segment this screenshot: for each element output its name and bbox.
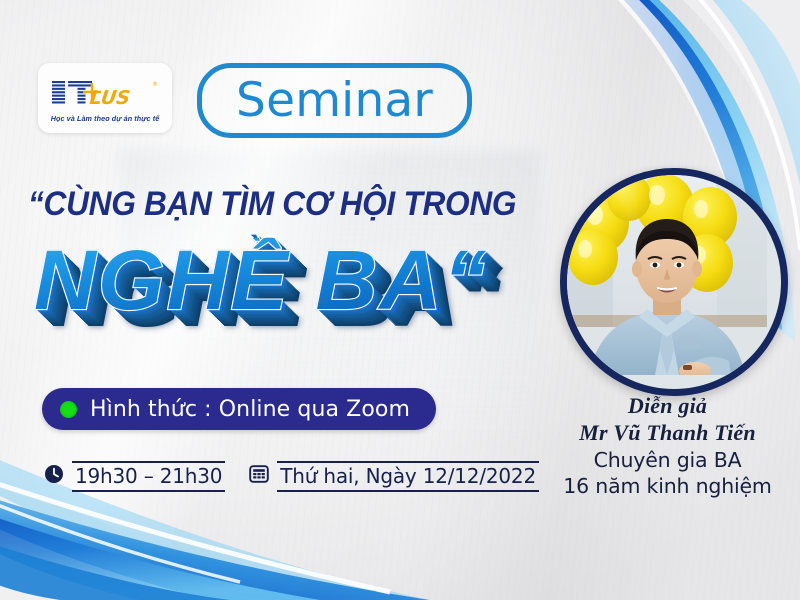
avatar-image	[567, 175, 781, 389]
itplus-logo-icon: LUS ®	[49, 76, 161, 112]
seminar-badge: Seminar	[197, 63, 472, 138]
avatar-illustration	[567, 175, 767, 375]
speaker-role: Diễn giả	[540, 392, 795, 419]
speaker-info: Diễn giả Mr Vũ Thanh Tiến Chuyên gia BA …	[540, 392, 795, 500]
event-time-item: 19h30 – 21h30	[44, 461, 225, 492]
avatar	[560, 168, 788, 396]
svg-text:®: ®	[152, 81, 158, 88]
clock-icon	[44, 464, 64, 489]
brand-logo-card: LUS ® Học và Làm theo dự án thực tế	[38, 63, 172, 133]
format-badge: Hình thức : Online qua Zoom	[42, 388, 436, 430]
brand-tagline: Học và Làm theo dự án thực tế	[51, 114, 160, 123]
speaker-name: Mr Vũ Thanh Tiến	[540, 419, 795, 446]
event-date-item: Thứ hai, Ngày 12/12/2022	[249, 461, 539, 492]
page-title-line-1: “CÙNG BẠN TÌM CƠ HỘI TRONG	[28, 185, 465, 224]
big-word-face: NGHỀ BA“	[34, 238, 488, 322]
event-meta-row: 19h30 – 21h30 Thứ hai, Ngày 12/12/2022	[44, 461, 539, 492]
page-title-line-2: NGHỀ BA“ NGHỀ BA“ NGHỀ BA“	[34, 238, 504, 358]
format-badge-label: Hình thức : Online qua Zoom	[90, 397, 410, 422]
svg-text:LUS: LUS	[88, 86, 131, 109]
event-time-text: 19h30 – 21h30	[72, 461, 225, 492]
green-status-dot-icon	[60, 401, 77, 418]
seminar-poster: LUS ® Học và Làm theo dự án thực tế Semi…	[0, 0, 800, 600]
seminar-badge-label: Seminar	[236, 77, 433, 124]
itplus-logo-svg: LUS ®	[49, 76, 161, 112]
speaker-expertise: Chuyên gia BA	[540, 447, 795, 474]
event-date-text: Thứ hai, Ngày 12/12/2022	[277, 461, 539, 492]
speaker-experience: 16 năm kinh nghiệm	[540, 473, 795, 500]
calendar-icon	[249, 464, 269, 489]
